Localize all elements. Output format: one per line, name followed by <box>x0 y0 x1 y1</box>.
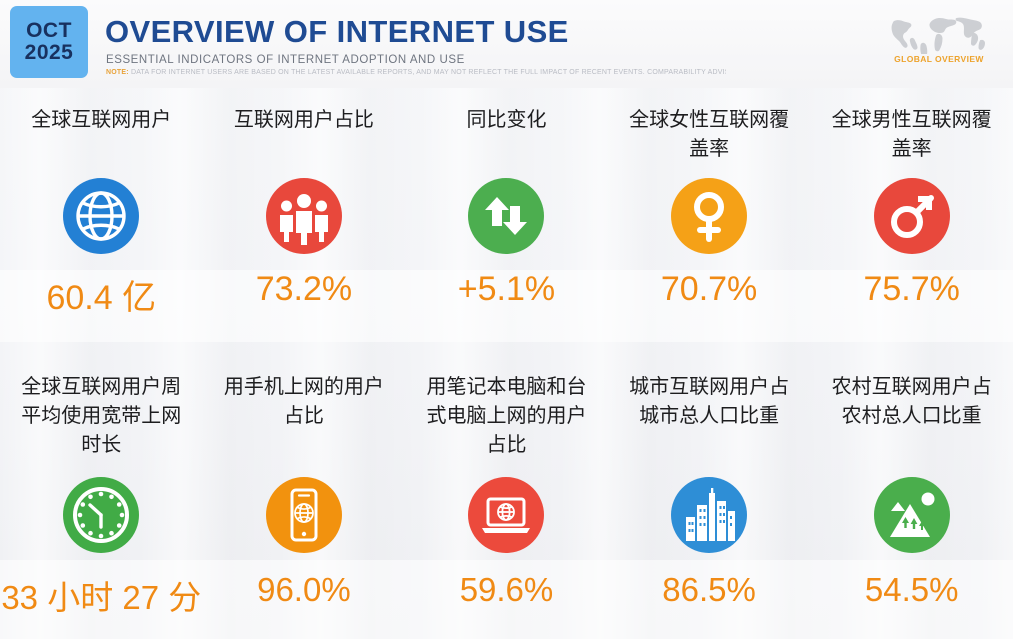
metric-value: 86.5% <box>662 571 756 609</box>
metric-value: 75.7% <box>863 270 959 309</box>
metric-cell-female-internet-penetration: 全球女性互联网覆盖率 70.7% <box>608 106 811 361</box>
mobile-phone-globe-icon <box>264 475 344 555</box>
rural-mountains-icon <box>872 475 952 555</box>
metric-cell-rural-internet-penetration: 农村互联网用户占农村总人口比重 54.5% <box>810 373 1013 639</box>
clock-icon <box>61 475 141 555</box>
brand-name: GLOBAL OVERVIEW <box>894 54 984 64</box>
metric-cell-internet-user-share: 互联网用户占比 73.2% <box>203 106 406 361</box>
footnote: NOTE: DATA FOR INTERNET USERS ARE BASED … <box>106 69 726 76</box>
metric-label: 全球互联网用户周平均使用宽带上网时长 <box>19 373 184 473</box>
metric-value: 60.4 亿 <box>46 270 156 319</box>
metric-value: 70.7% <box>661 270 757 309</box>
metric-value: 73.2% <box>256 270 352 309</box>
metric-cell-mobile-internet-share: 用手机上网的用户占比 <box>203 373 406 639</box>
brand-logo: GLOBAL OVERVIEW <box>879 12 999 74</box>
metric-label: 同比变化 <box>466 106 546 172</box>
metric-cell-male-internet-penetration: 全球男性互联网覆盖率 75.7% <box>810 106 1013 361</box>
badge-month: OCT <box>26 20 72 42</box>
city-buildings-icon <box>669 475 749 555</box>
footnote-text: DATA FOR INTERNET USERS ARE BASED ON THE… <box>131 69 726 76</box>
laptop-globe-icon <box>466 475 546 555</box>
metric-value: 59.6% <box>460 571 554 609</box>
metric-label: 全球互联网用户 <box>31 106 171 172</box>
people-icon <box>264 176 344 256</box>
metric-label: 互联网用户占比 <box>234 106 374 172</box>
metrics-row-2: 全球互联网用户周平均使用宽带上网时长 <box>0 373 1013 639</box>
metric-cell-yoy-change: 同比变化 +5.1% <box>405 106 608 361</box>
header: OCT 2025 OVERVIEW OF INTERNET USE ESSENT… <box>0 0 1013 88</box>
metric-label: 城市互联网用户占城市总人口比重 <box>627 373 792 473</box>
metric-value: 54.5% <box>865 571 959 609</box>
metric-value: 96.0% <box>257 571 351 609</box>
metrics-grid: 全球互联网用户 60.4 亿 <box>0 88 1013 639</box>
date-badge: OCT 2025 <box>10 6 88 78</box>
up-down-arrows-icon <box>466 176 546 256</box>
metric-cell-global-internet-users: 全球互联网用户 60.4 亿 <box>0 106 203 361</box>
metric-value: 33 小时 27 分 <box>1 571 201 619</box>
male-symbol-icon <box>872 176 952 256</box>
metric-cell-computer-internet-share: 用笔记本电脑和台式电脑上网的用户占比 <box>405 373 608 639</box>
metric-value: +5.1% <box>458 270 555 309</box>
page-title: OVERVIEW OF INTERNET USE <box>105 14 569 50</box>
metric-label: 全球男性互联网覆盖率 <box>829 106 994 172</box>
page-subtitle: ESSENTIAL INDICATORS OF INTERNET ADOPTIO… <box>106 54 465 66</box>
metric-cell-urban-internet-penetration: 城市互联网用户占城市总人口比重 <box>608 373 811 639</box>
female-symbol-icon <box>669 176 749 256</box>
world-map-icon <box>883 12 995 54</box>
metric-label: 全球女性互联网覆盖率 <box>627 106 792 172</box>
badge-year: 2025 <box>25 42 74 64</box>
metric-label: 农村互联网用户占农村总人口比重 <box>829 373 994 473</box>
infographic-slide: OCT 2025 OVERVIEW OF INTERNET USE ESSENT… <box>0 0 1013 639</box>
footnote-prefix: NOTE: <box>106 69 129 76</box>
metric-cell-weekly-broadband-time: 全球互联网用户周平均使用宽带上网时长 <box>0 373 203 639</box>
metrics-row-1: 全球互联网用户 60.4 亿 <box>0 106 1013 361</box>
metric-label: 用笔记本电脑和台式电脑上网的用户占比 <box>424 373 589 473</box>
globe-icon <box>61 176 141 256</box>
metric-label: 用手机上网的用户占比 <box>221 373 386 473</box>
